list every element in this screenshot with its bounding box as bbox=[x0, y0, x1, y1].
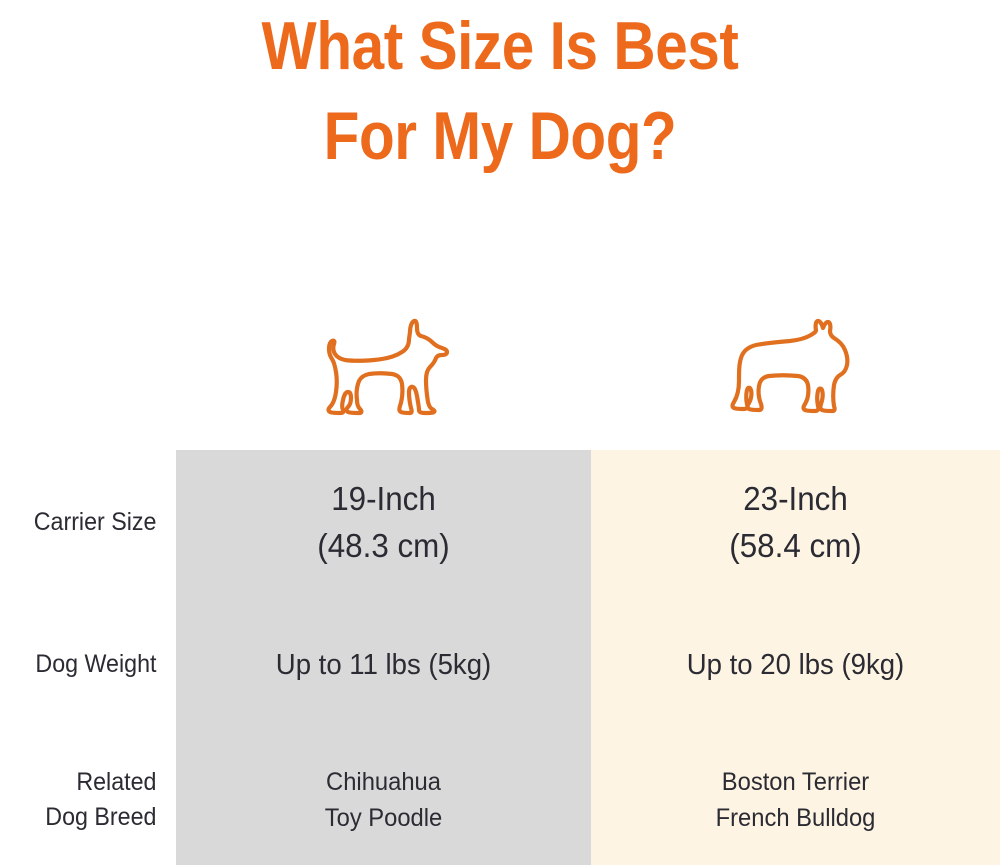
chihuahua-dog-icon bbox=[314, 318, 454, 418]
table-row: Carrier Size 19-Inch (48.3 cm) 23-Inch (… bbox=[0, 450, 1000, 595]
page-title: What Size Is Best For My Dog? bbox=[0, 0, 1000, 182]
cell-dog-weight-small: Up to 11 lbs (5kg) bbox=[186, 645, 580, 686]
page-title-line-1: What Size Is Best bbox=[70, 2, 930, 92]
row-label-carrier-size: Carrier Size bbox=[12, 505, 176, 541]
page-title-line-2: For My Dog? bbox=[70, 92, 930, 182]
french-bulldog-dog-icon bbox=[728, 318, 864, 418]
cell-dog-breed-medium: Boston Terrier French Bulldog bbox=[601, 764, 990, 837]
cell-dog-breed-small: Chihuahua Toy Poodle bbox=[186, 764, 580, 837]
row-label-related-dog-breed: Related Dog Breed bbox=[12, 765, 176, 836]
cell-dog-weight-medium: Up to 20 lbs (9kg) bbox=[601, 645, 990, 686]
cell-carrier-size-medium: 23-Inch (58.4 cm) bbox=[601, 476, 990, 570]
cell-carrier-size-small: 19-Inch (48.3 cm) bbox=[186, 476, 580, 570]
table-row: Dog Weight Up to 11 lbs (5kg) Up to 20 l… bbox=[0, 595, 1000, 735]
comparison-table: Carrier Size 19-Inch (48.3 cm) 23-Inch (… bbox=[0, 450, 1000, 865]
table-row: Related Dog Breed Chihuahua Toy Poodle B… bbox=[0, 735, 1000, 865]
row-label-dog-weight: Dog Weight bbox=[12, 647, 176, 683]
column-header-small bbox=[176, 318, 591, 436]
column-header-medium bbox=[591, 318, 1000, 436]
